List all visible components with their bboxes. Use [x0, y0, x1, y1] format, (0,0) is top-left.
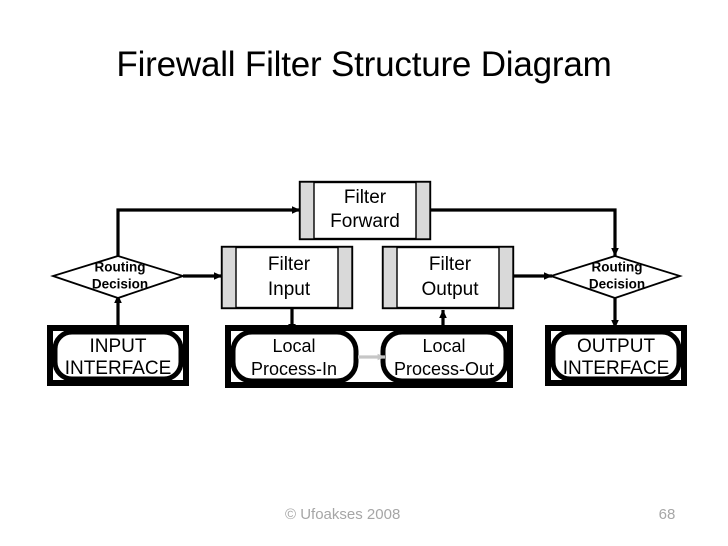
node-filter-forward[interactable]: Filter Forward [300, 182, 430, 239]
routing-decision-left-label-line1: Routing [95, 260, 146, 275]
local-process-in-label-line2: Process-In [251, 359, 337, 379]
slide-canvas: Firewall Filter Structure Diagram [0, 0, 728, 546]
page-title: Firewall Filter Structure Diagram [0, 44, 728, 86]
filter-forward-label-line2: Forward [330, 211, 400, 232]
node-routing-decision-right[interactable]: Routing Decision [551, 256, 680, 298]
node-input-interface[interactable]: INPUT INTERFACE [50, 328, 186, 383]
filter-input-label-line1: Filter [268, 254, 311, 275]
input-interface-label-line2: INTERFACE [65, 358, 172, 379]
firewall-filter-structure-diagram: Filter Forward Routing Decision Filter I… [0, 160, 728, 390]
node-local-process-out[interactable]: Local Process-Out [383, 332, 506, 381]
filter-input-label-line2: Input [268, 279, 311, 300]
filter-output-label-line1: Filter [429, 254, 472, 275]
node-local-process-in[interactable]: Local Process-In [233, 332, 356, 381]
node-filter-output[interactable]: Filter Output [383, 247, 513, 308]
local-process-out-label-line2: Process-Out [394, 359, 494, 379]
output-interface-label-line2: INTERFACE [563, 358, 670, 379]
node-filter-input[interactable]: Filter Input [222, 247, 352, 308]
routing-decision-right-label-line1: Routing [592, 260, 643, 275]
filter-forward-label-line1: Filter [344, 187, 387, 208]
input-interface-label-line1: INPUT [90, 336, 147, 357]
footer-copyright: © Ufoakses 2008 [285, 506, 400, 523]
routing-decision-left-label-line2: Decision [92, 277, 148, 292]
output-interface-label-line1: OUTPUT [577, 336, 656, 357]
footer-page-number: 68 [652, 506, 682, 523]
routing-decision-right-label-line2: Decision [589, 277, 645, 292]
node-routing-decision-left[interactable]: Routing Decision [53, 256, 183, 298]
node-output-interface[interactable]: OUTPUT INTERFACE [548, 328, 684, 383]
filter-output-label-line2: Output [421, 279, 479, 300]
local-process-out-label-line1: Local [422, 336, 465, 356]
local-process-in-label-line1: Local [272, 336, 315, 356]
